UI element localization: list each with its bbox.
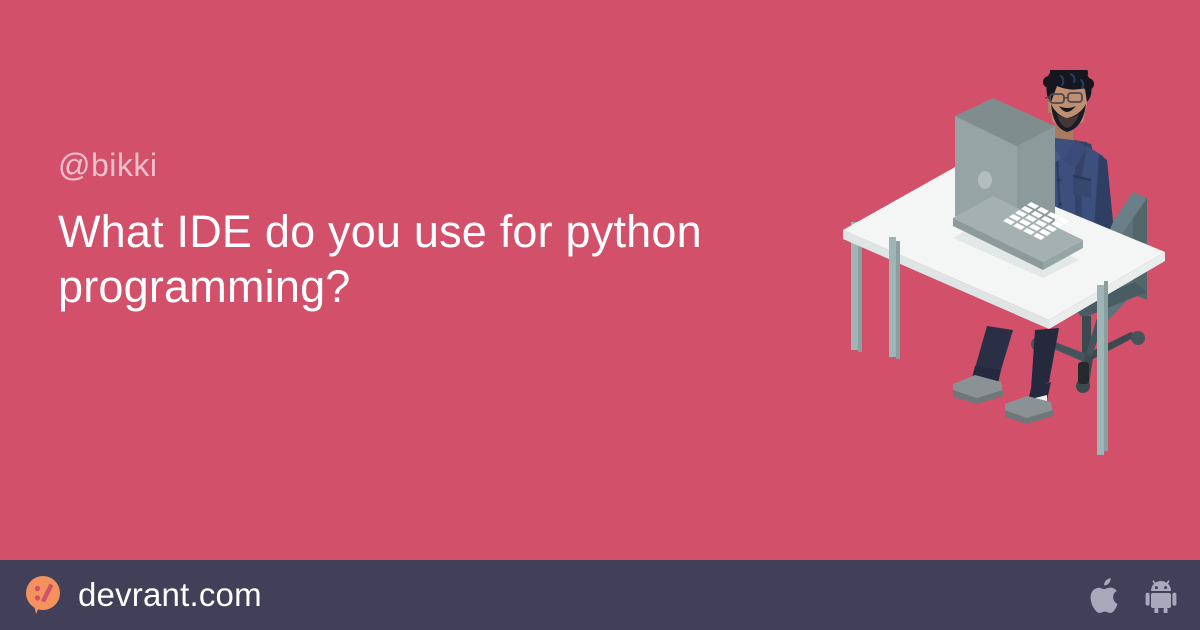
- rant-text-block: @bikki What IDE do you use for python pr…: [58, 148, 758, 315]
- developer-at-desk-illustration: [835, 70, 1175, 490]
- rant-body-text: What IDE do you use for python programmi…: [58, 205, 718, 315]
- android-icon[interactable]: [1144, 577, 1178, 613]
- speech-bubble-icon: [22, 574, 64, 616]
- apple-icon[interactable]: [1088, 577, 1122, 613]
- brand-link[interactable]: devrant.com: [22, 574, 262, 616]
- developer-head-illustration: [1043, 70, 1094, 132]
- brand-name-label: devrant.com: [78, 576, 262, 614]
- platform-badges: [1088, 577, 1178, 613]
- rant-username[interactable]: @bikki: [58, 148, 758, 183]
- footer-bar: devrant.com: [0, 560, 1200, 630]
- devrant-rant-card: @bikki What IDE do you use for python pr…: [0, 0, 1200, 630]
